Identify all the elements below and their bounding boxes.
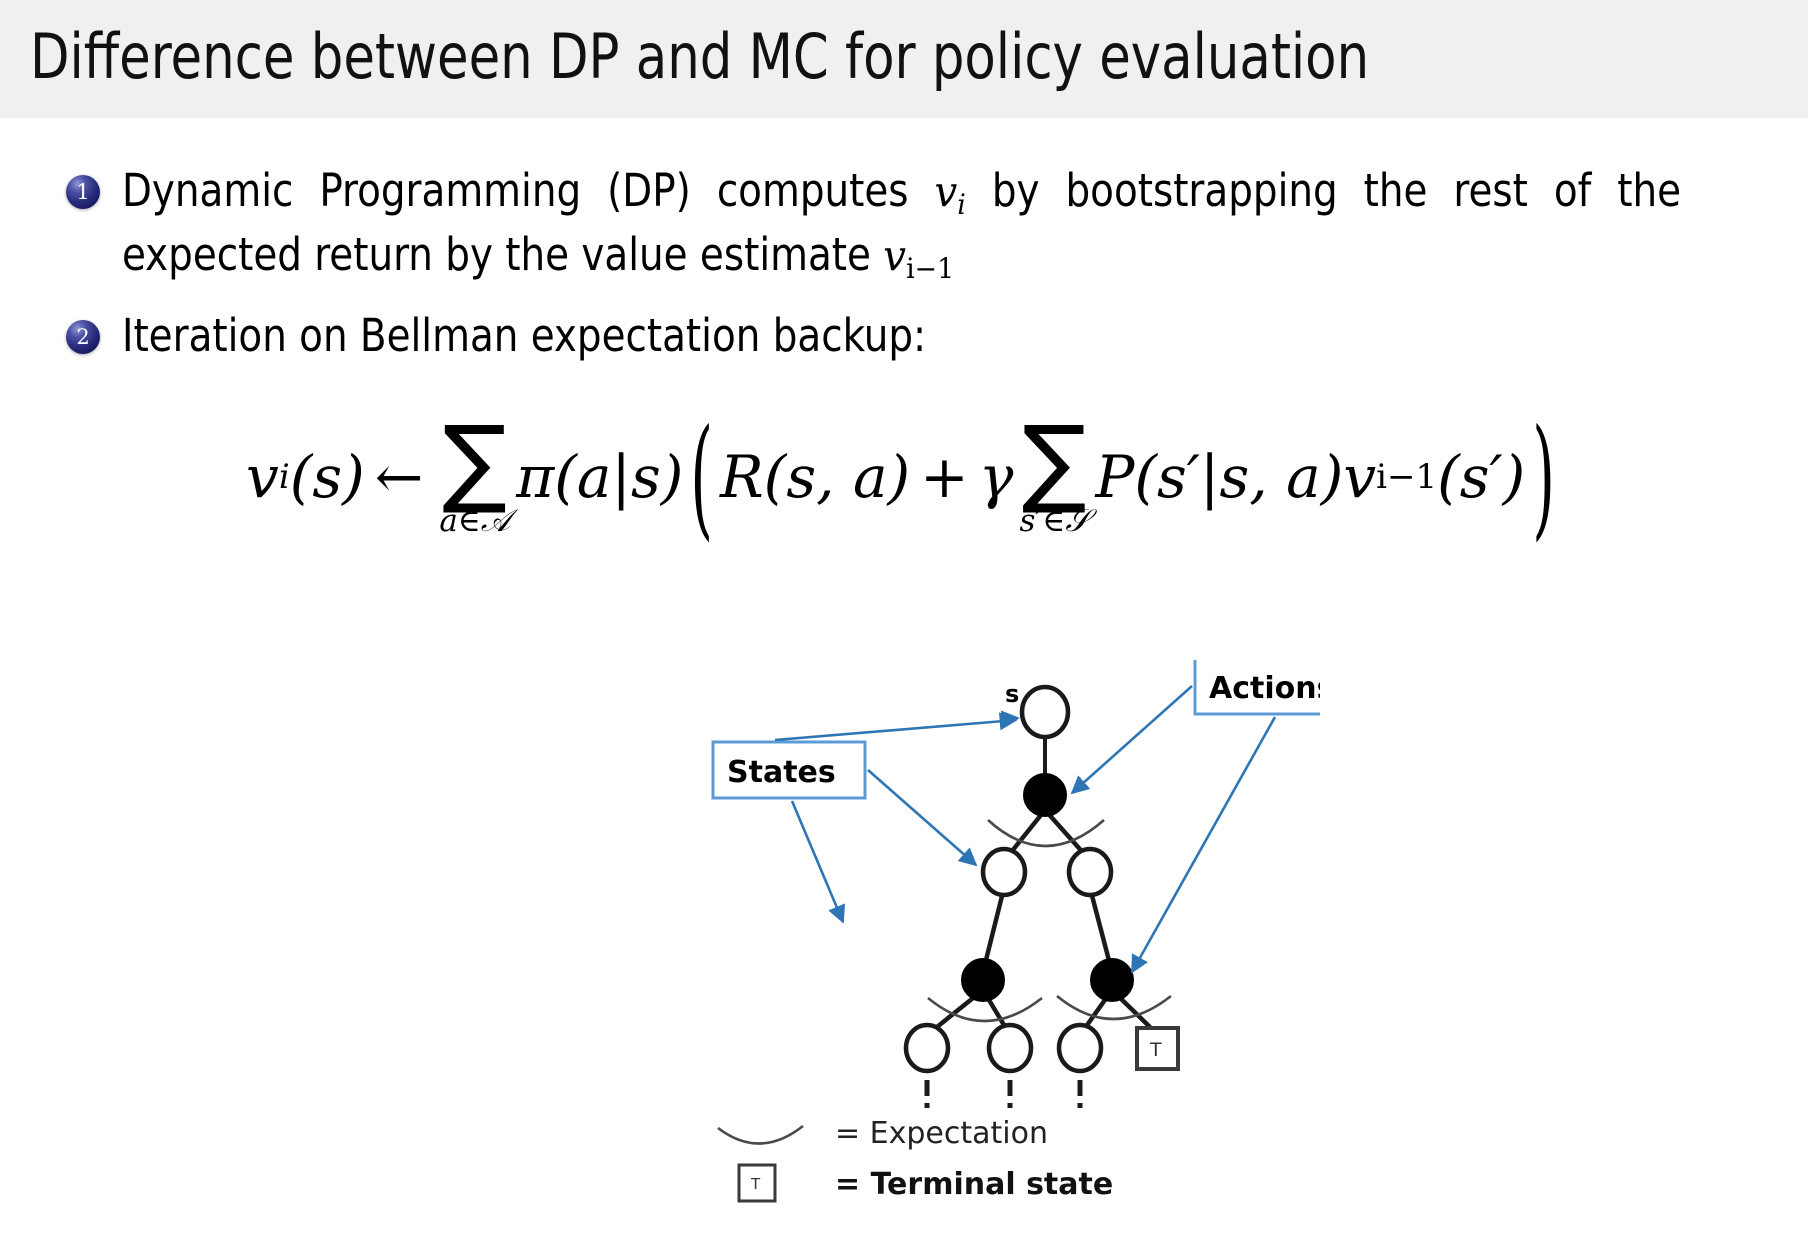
bullet-text-1: Dynamic Programming (DP) computes vi by … xyxy=(122,160,1681,287)
legend-expectation-text: = Expectation xyxy=(835,1116,1048,1151)
state-node-leaf-2 xyxy=(989,1025,1031,1071)
action-node-lower-left xyxy=(962,959,1004,1001)
equation-lhs-subscript: i xyxy=(279,457,290,497)
legend-terminal-square-letter: T xyxy=(750,1175,761,1193)
equation-sum1-limit: a∈𝒜 xyxy=(439,503,510,540)
equation-lhs-args: (s) xyxy=(290,443,365,511)
arrow-actions-to-lower-action xyxy=(1132,717,1275,972)
equation-value-args: (s′) xyxy=(1437,443,1525,511)
sigma-icon: ∑ xyxy=(1022,422,1087,501)
equation-value-v: v xyxy=(1343,443,1376,511)
equation-close-paren: ) xyxy=(1525,400,1562,553)
bullet-list: 1 Dynamic Programming (DP) computes vi b… xyxy=(66,160,1746,385)
equation-transition-term: P(s′|s, a) xyxy=(1095,443,1343,511)
legend-expectation-arc-icon xyxy=(718,1126,803,1144)
equation-sum-over-states: ∑ s′∈𝒮 xyxy=(1019,422,1089,540)
equation-gamma: γ xyxy=(979,443,1014,511)
backup-diagram: s T States Actions xyxy=(700,660,1320,1240)
action-node-lower-right xyxy=(1091,959,1133,1001)
equation-reward-term: R(s, a) xyxy=(720,443,910,511)
callout-label-actions: Actions xyxy=(1209,671,1320,706)
bullet-1-var-v: v xyxy=(935,167,958,216)
bullet-marker-1: 1 xyxy=(66,175,100,209)
bullet-1-part-a: Dynamic Programming (DP) computes xyxy=(122,164,935,217)
bullet-marker-2: 2 xyxy=(66,320,100,354)
root-state-label: s xyxy=(1005,680,1019,708)
equation-plus-sign: + xyxy=(910,443,979,511)
state-node-middle-left xyxy=(983,849,1025,895)
state-node-middle-right xyxy=(1069,849,1111,895)
equation-sum-over-actions: ∑ a∈𝒜 xyxy=(439,422,510,540)
edge-action-to-state-right xyxy=(1045,810,1086,856)
terminal-square-label: T xyxy=(1149,1039,1162,1061)
equation-policy-term: π(a|s) xyxy=(516,443,683,511)
arrow-states-to-middle-state xyxy=(868,770,976,865)
state-node-leaf-1 xyxy=(906,1025,948,1071)
callout-label-states: States xyxy=(727,755,836,790)
bullet-text-2: Iteration on Bellman expectation backup: xyxy=(122,305,1681,366)
bellman-expectation-equation: vi(s) ← ∑ a∈𝒜 π(a|s) ( R(s, a) + γ ∑ s′∈… xyxy=(0,418,1808,536)
equation-lhs-v: v xyxy=(246,443,279,511)
legend: = Expectation T = Terminal state xyxy=(718,1116,1113,1202)
equation-value-subscript: i−1 xyxy=(1376,457,1437,497)
arrow-states-to-root xyxy=(775,720,1016,740)
state-node-root xyxy=(1022,687,1068,737)
state-node-leaf-3 xyxy=(1059,1025,1101,1071)
expectation-arc-top xyxy=(988,820,1104,846)
bullet-1-var-v2-subscript: i−1 xyxy=(906,252,954,285)
list-item: 2 Iteration on Bellman expectation backu… xyxy=(66,305,1746,366)
legend-terminal-text: = Terminal state xyxy=(835,1167,1113,1202)
equation-assign-arrow: ← xyxy=(365,443,434,511)
equation-open-paren: ( xyxy=(683,400,720,553)
list-item: 1 Dynamic Programming (DP) computes vi b… xyxy=(66,160,1746,287)
action-node-top xyxy=(1024,774,1066,816)
bullet-1-var-v2: v xyxy=(883,231,906,280)
arrow-actions-to-top-action xyxy=(1072,686,1192,793)
page-title: Difference between DP and MC for policy … xyxy=(30,20,1369,93)
bullet-1-var-v-subscript: i xyxy=(957,188,966,221)
equation-sum2-limit: s′∈𝒮 xyxy=(1019,503,1089,540)
callout-actions-group[interactable]: Actions xyxy=(1195,660,1320,714)
sigma-icon: ∑ xyxy=(442,422,507,501)
arrow-states-to-leaf xyxy=(792,801,843,922)
